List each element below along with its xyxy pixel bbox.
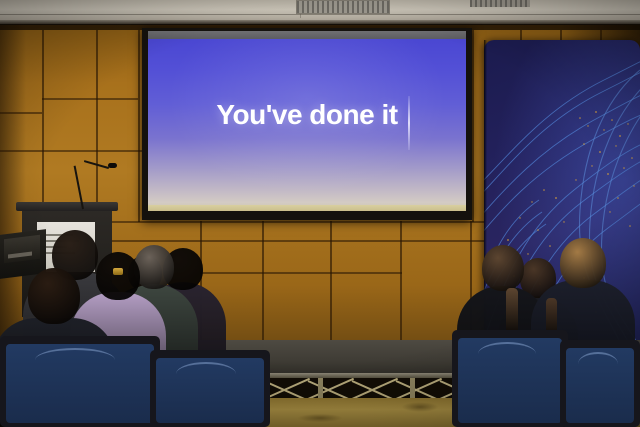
- lectern-top: [16, 202, 118, 211]
- wall-panel-seam: [0, 150, 142, 152]
- audience-member-head: [482, 245, 524, 291]
- chair-highlight: [176, 362, 236, 386]
- truss-leg: [318, 378, 323, 400]
- audience-member-head: [560, 238, 606, 288]
- audience-member-head: [96, 252, 140, 300]
- wall-panel-seam: [472, 30, 474, 222]
- wall-panel-seam: [42, 30, 44, 222]
- conference-chair: [452, 330, 568, 427]
- wall-panel-seam: [0, 112, 42, 114]
- ceiling-tile-seam: [0, 14, 640, 15]
- projection-screen-top-bar: [148, 31, 466, 39]
- chair-highlight: [578, 352, 618, 376]
- conference-chair: [560, 340, 640, 427]
- slide-headline: You've done it: [148, 99, 466, 131]
- conference-chair: [0, 336, 160, 427]
- audience-member-head: [134, 245, 174, 289]
- wall-panel-seam: [42, 98, 138, 100]
- microphone-icon: [108, 163, 117, 168]
- ceiling-vent: [296, 0, 390, 14]
- laptop-screen: [4, 235, 40, 263]
- audience-member-head: [28, 268, 80, 324]
- wall-panel-seam: [96, 30, 98, 222]
- ceiling-vent: [470, 0, 530, 7]
- chair-highlight: [478, 342, 536, 366]
- conference-room-photo: You've done it: [0, 0, 640, 427]
- conference-chair: [150, 350, 270, 427]
- hair-clip: [113, 268, 123, 275]
- wall-panel-seam: [138, 30, 140, 222]
- chair-highlight: [35, 348, 115, 372]
- wall-panel-seam: [200, 272, 402, 274]
- text-cursor-icon: [408, 96, 410, 150]
- truss-leg: [410, 378, 415, 400]
- projection-screen-bottom-strip: [148, 205, 466, 211]
